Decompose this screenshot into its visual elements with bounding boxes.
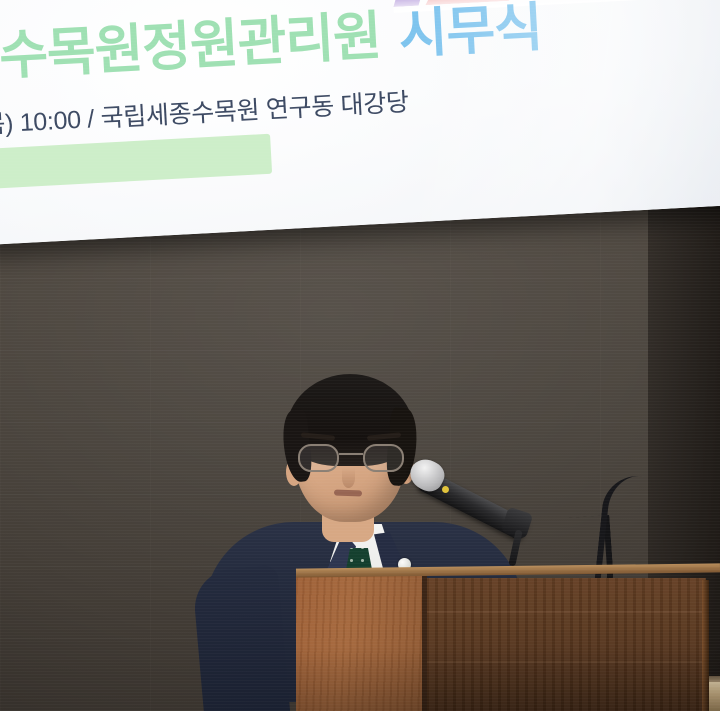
nose — [342, 468, 355, 488]
glasses-lens-left — [298, 444, 339, 472]
suit-arm-left — [192, 565, 291, 711]
microphone-accent-dot — [442, 486, 449, 493]
glasses-bridge — [339, 453, 363, 455]
photo-scene: 국수목원정원관리원시무식 . (목) 10:00 / 국립세종수목원 연구동 대… — [0, 0, 720, 711]
projection-screen: 국수목원정원관리원시무식 . (목) 10:00 / 국립세종수목원 연구동 대… — [0, 0, 720, 246]
podium-shading — [296, 566, 720, 711]
screen-headline-blue: 시무식 — [397, 0, 543, 65]
mouth — [334, 490, 362, 497]
glasses-lens-right — [363, 444, 404, 472]
podium — [296, 566, 720, 711]
